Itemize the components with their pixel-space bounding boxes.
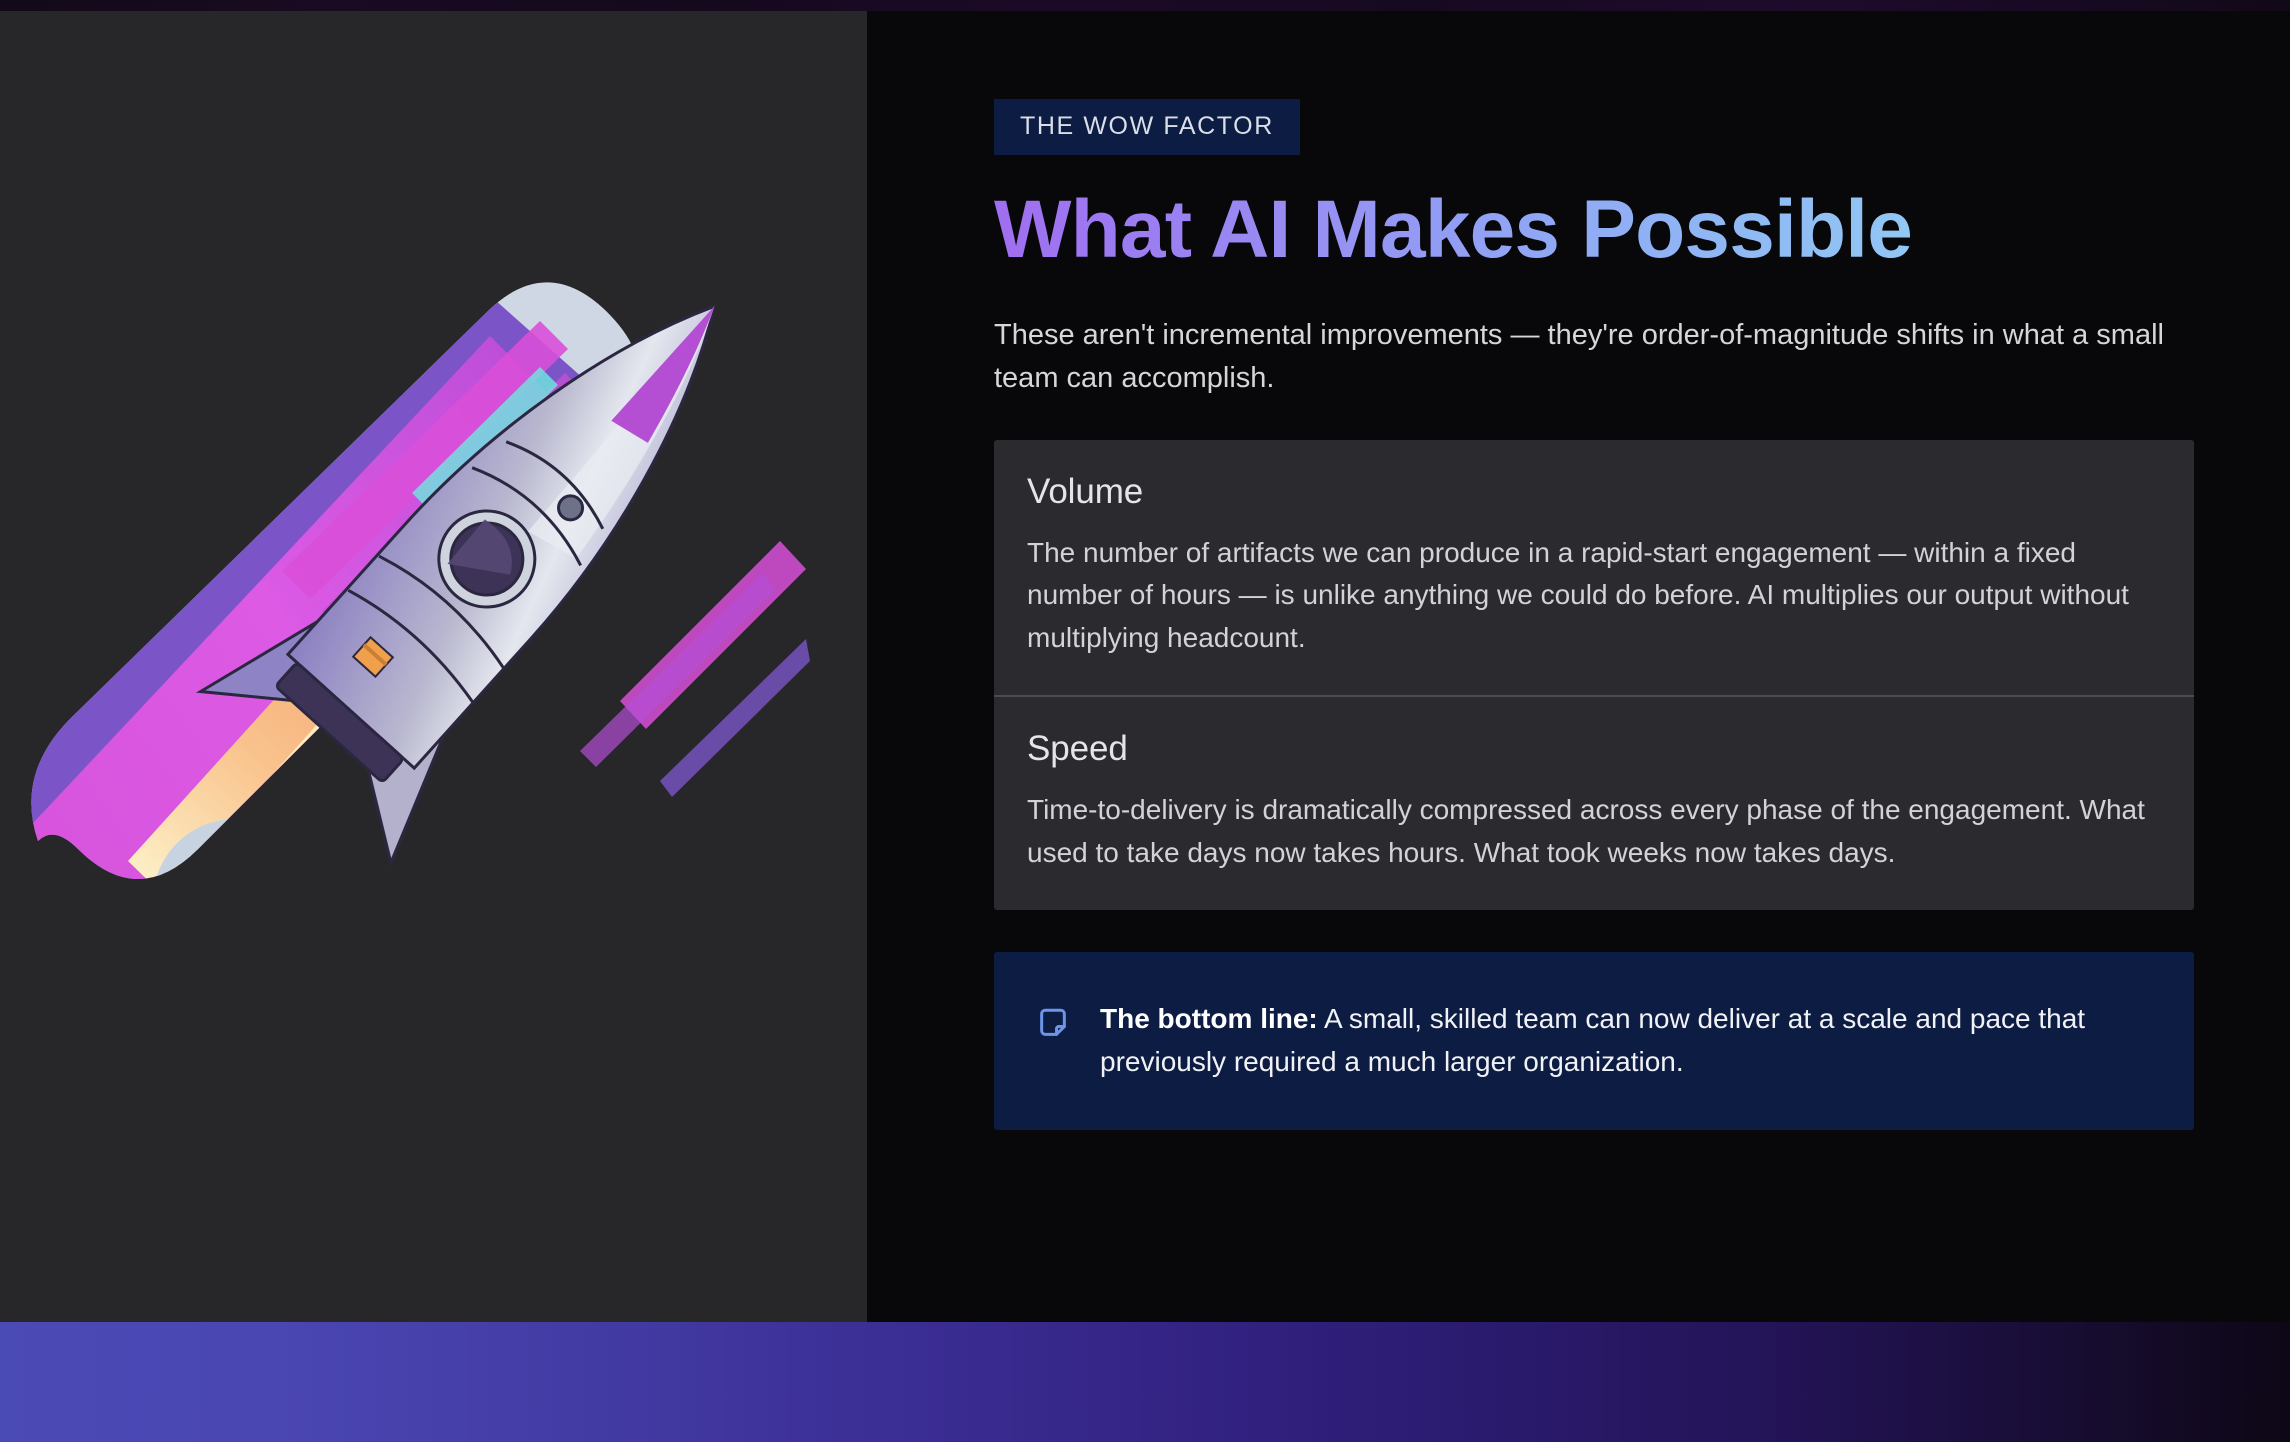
sticky-note-icon (1036, 1006, 1070, 1040)
slide-body: THE WOW FACTOR What AI Makes Possible Th… (0, 11, 2290, 1322)
callout-text: The bottom line: A small, skilled team c… (1100, 998, 2154, 1083)
bottom-line-callout: The bottom line: A small, skilled team c… (994, 952, 2194, 1129)
rocket-launch-illustration (20, 141, 810, 1161)
bottom-gradient-bar (0, 1322, 2290, 1442)
intro-paragraph: These aren't incremental improvements — … (994, 314, 2174, 400)
section-badge: THE WOW FACTOR (994, 99, 1300, 155)
slide-root: THE WOW FACTOR What AI Makes Possible Th… (0, 0, 2290, 1442)
feature-card: Volume The number of artifacts we can pr… (994, 440, 2194, 911)
feature-block-volume: Volume The number of artifacts we can pr… (994, 440, 2194, 696)
top-accent-strip (0, 0, 2290, 11)
feature-text: Time-to-delivery is dramatically compres… (1027, 789, 2161, 874)
feature-block-speed: Speed Time-to-delivery is dramatically c… (994, 695, 2194, 910)
illustration-panel (0, 11, 867, 1322)
feature-title: Volume (1027, 472, 2161, 512)
feature-text: The number of artifacts we can produce i… (1027, 532, 2161, 660)
callout-lead: The bottom line: (1100, 1003, 1318, 1034)
feature-title: Speed (1027, 729, 2161, 769)
page-title: What AI Makes Possible (994, 187, 2194, 272)
content-panel: THE WOW FACTOR What AI Makes Possible Th… (867, 11, 2290, 1322)
